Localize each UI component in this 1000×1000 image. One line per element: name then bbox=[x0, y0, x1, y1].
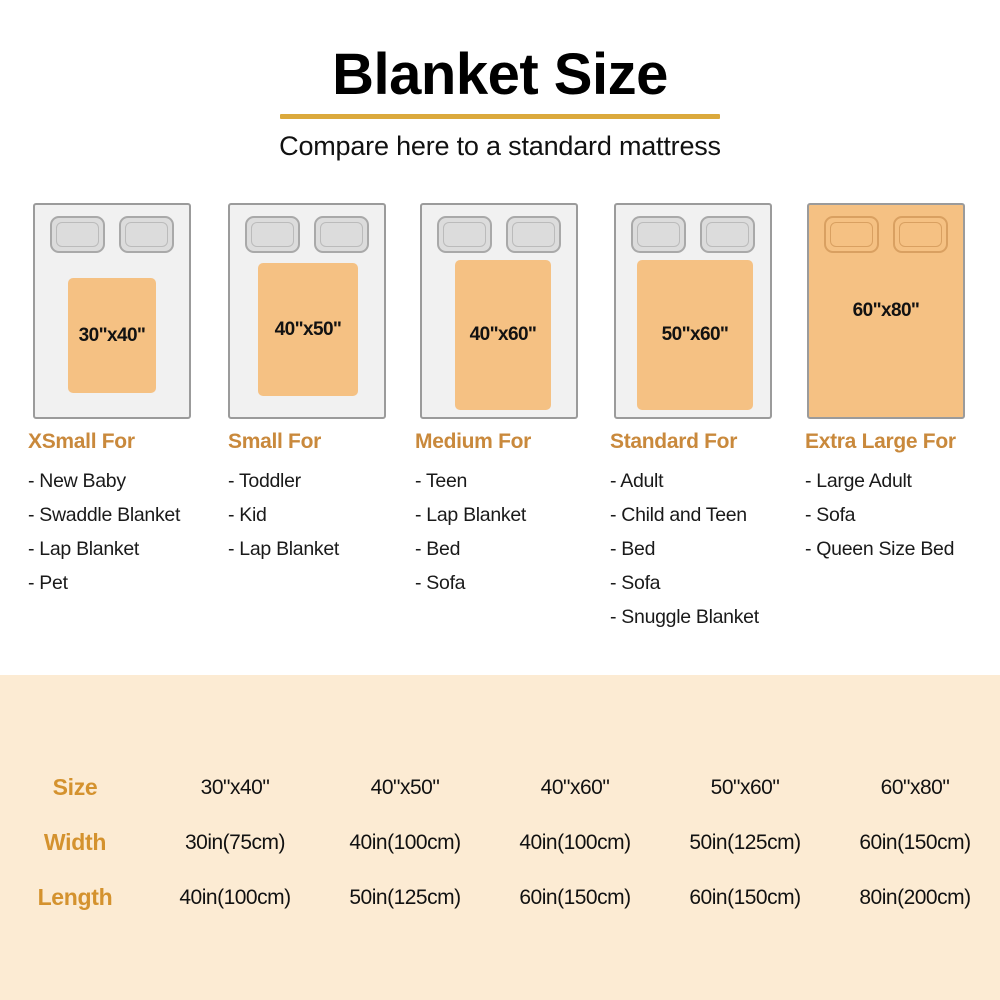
table-cell: 60"x80" bbox=[830, 776, 1000, 800]
pillow-icon bbox=[700, 216, 755, 253]
blanket-size-label: 40"x60" bbox=[470, 324, 537, 346]
bed-diagram: 60"x80" bbox=[807, 203, 965, 419]
category-title: Medium For bbox=[415, 430, 531, 454]
pillow-icon bbox=[824, 216, 879, 253]
table-row: Length40in(100cm)50in(125cm)60in(150cm)6… bbox=[0, 870, 1000, 925]
bed-diagram: 30"x40" bbox=[33, 203, 191, 419]
bed-diagrams-row: 30"x40"40"x50"40"x60"50"x60"60"x80" bbox=[0, 203, 1000, 421]
pillow-icon bbox=[506, 216, 561, 253]
page-title: Blanket Size bbox=[332, 46, 668, 104]
table-cell: 60in(150cm) bbox=[830, 831, 1000, 855]
table-row: Width30in(75cm)40in(100cm)40in(100cm)50i… bbox=[0, 815, 1000, 870]
table-row-label: Length bbox=[0, 884, 150, 911]
table-cell: 40in(100cm) bbox=[490, 831, 660, 855]
category-list: - Toddler- Kid- Lap Blanket bbox=[228, 464, 339, 566]
pillow-icon bbox=[631, 216, 686, 253]
list-item: - Teen bbox=[415, 464, 531, 498]
category-title: Extra Large For bbox=[805, 430, 956, 454]
mattress: 50"x60" bbox=[616, 205, 770, 417]
category-column: XSmall For- New Baby- Swaddle Blanket- L… bbox=[28, 430, 180, 600]
list-item: - Swaddle Blanket bbox=[28, 498, 180, 532]
category-title: Small For bbox=[228, 430, 339, 454]
pillow-icon bbox=[314, 216, 369, 253]
category-title: XSmall For bbox=[28, 430, 180, 454]
list-item: - Sofa bbox=[415, 566, 531, 600]
list-item: - Lap Blanket bbox=[415, 498, 531, 532]
table-cell: 40in(100cm) bbox=[320, 831, 490, 855]
blanket-size-label: 40"x50" bbox=[275, 319, 342, 341]
list-item: - Lap Blanket bbox=[228, 532, 339, 566]
list-item: - New Baby bbox=[28, 464, 180, 498]
bed-diagram: 40"x50" bbox=[228, 203, 386, 419]
table-cell: 50"x60" bbox=[660, 776, 830, 800]
table-cell: 80in(200cm) bbox=[830, 886, 1000, 910]
pillow-icon bbox=[245, 216, 300, 253]
list-item: - Adult bbox=[610, 464, 759, 498]
list-item: - Pet bbox=[28, 566, 180, 600]
table-cell: 60in(150cm) bbox=[660, 886, 830, 910]
blanket-size-label: 30"x40" bbox=[79, 325, 146, 347]
table-cell: 40"x60" bbox=[490, 776, 660, 800]
list-item: - Large Adult bbox=[805, 464, 956, 498]
bed-diagram: 50"x60" bbox=[614, 203, 772, 419]
mattress: 30"x40" bbox=[35, 205, 189, 417]
category-column: Small For- Toddler- Kid- Lap Blanket bbox=[228, 430, 339, 566]
blanket-overlay: 40"x60" bbox=[455, 260, 551, 410]
list-item: - Toddler bbox=[228, 464, 339, 498]
list-item: - Kid bbox=[228, 498, 339, 532]
category-list: - Adult- Child and Teen- Bed- Sofa- Snug… bbox=[610, 464, 759, 634]
pillow-group bbox=[422, 216, 576, 253]
list-item: - Child and Teen bbox=[610, 498, 759, 532]
list-item: - Lap Blanket bbox=[28, 532, 180, 566]
blanket-overlay: 50"x60" bbox=[637, 260, 753, 410]
list-item: - Sofa bbox=[805, 498, 956, 532]
blanket-overlay: 30"x40" bbox=[68, 278, 156, 393]
spec-table-grid: Size30"x40"40"x50"40"x60"50"x60"60"x80"W… bbox=[0, 760, 1000, 925]
pillow-icon bbox=[437, 216, 492, 253]
pillow-group bbox=[809, 216, 963, 253]
category-columns: XSmall For- New Baby- Swaddle Blanket- L… bbox=[0, 430, 1000, 660]
spec-table: Size30"x40"40"x50"40"x60"50"x60"60"x80"W… bbox=[0, 675, 1000, 1000]
list-item: - Queen Size Bed bbox=[805, 532, 956, 566]
category-column: Medium For- Teen- Lap Blanket- Bed- Sofa bbox=[415, 430, 531, 600]
pillow-icon bbox=[893, 216, 948, 253]
category-column: Standard For- Adult- Child and Teen- Bed… bbox=[610, 430, 759, 634]
list-item: - Sofa bbox=[610, 566, 759, 600]
blanket-overlay: 40"x50" bbox=[258, 263, 358, 396]
table-cell: 30in(75cm) bbox=[150, 831, 320, 855]
page-subtitle: Compare here to a standard mattress bbox=[0, 131, 1000, 162]
list-item: - Bed bbox=[415, 532, 531, 566]
pillow-icon bbox=[119, 216, 174, 253]
blanket-size-label: 50"x60" bbox=[662, 324, 729, 346]
mattress: 60"x80" bbox=[809, 205, 963, 417]
category-column: Extra Large For- Large Adult- Sofa- Quee… bbox=[805, 430, 956, 566]
category-list: - Large Adult- Sofa- Queen Size Bed bbox=[805, 464, 956, 566]
table-cell: 30"x40" bbox=[150, 776, 320, 800]
table-cell: 60in(150cm) bbox=[490, 886, 660, 910]
bed-diagram: 40"x60" bbox=[420, 203, 578, 419]
table-cell: 50in(125cm) bbox=[660, 831, 830, 855]
list-item: - Bed bbox=[610, 532, 759, 566]
category-list: - Teen- Lap Blanket- Bed- Sofa bbox=[415, 464, 531, 600]
table-row-label: Width bbox=[0, 829, 150, 856]
table-cell: 40in(100cm) bbox=[150, 886, 320, 910]
table-row-label: Size bbox=[0, 774, 150, 801]
table-row: Size30"x40"40"x50"40"x60"50"x60"60"x80" bbox=[0, 760, 1000, 815]
list-item: - Snuggle Blanket bbox=[610, 600, 759, 634]
pillow-group bbox=[616, 216, 770, 253]
mattress: 40"x50" bbox=[230, 205, 384, 417]
blanket-size-label: 60"x80" bbox=[853, 300, 920, 322]
table-cell: 40"x50" bbox=[320, 776, 490, 800]
mattress: 40"x60" bbox=[422, 205, 576, 417]
title-underline bbox=[280, 114, 720, 119]
pillow-group bbox=[230, 216, 384, 253]
header: Blanket Size Compare here to a standard … bbox=[0, 0, 1000, 162]
pillow-icon bbox=[50, 216, 105, 253]
category-list: - New Baby- Swaddle Blanket- Lap Blanket… bbox=[28, 464, 180, 600]
pillow-group bbox=[35, 216, 189, 253]
category-title: Standard For bbox=[610, 430, 759, 454]
table-cell: 50in(125cm) bbox=[320, 886, 490, 910]
